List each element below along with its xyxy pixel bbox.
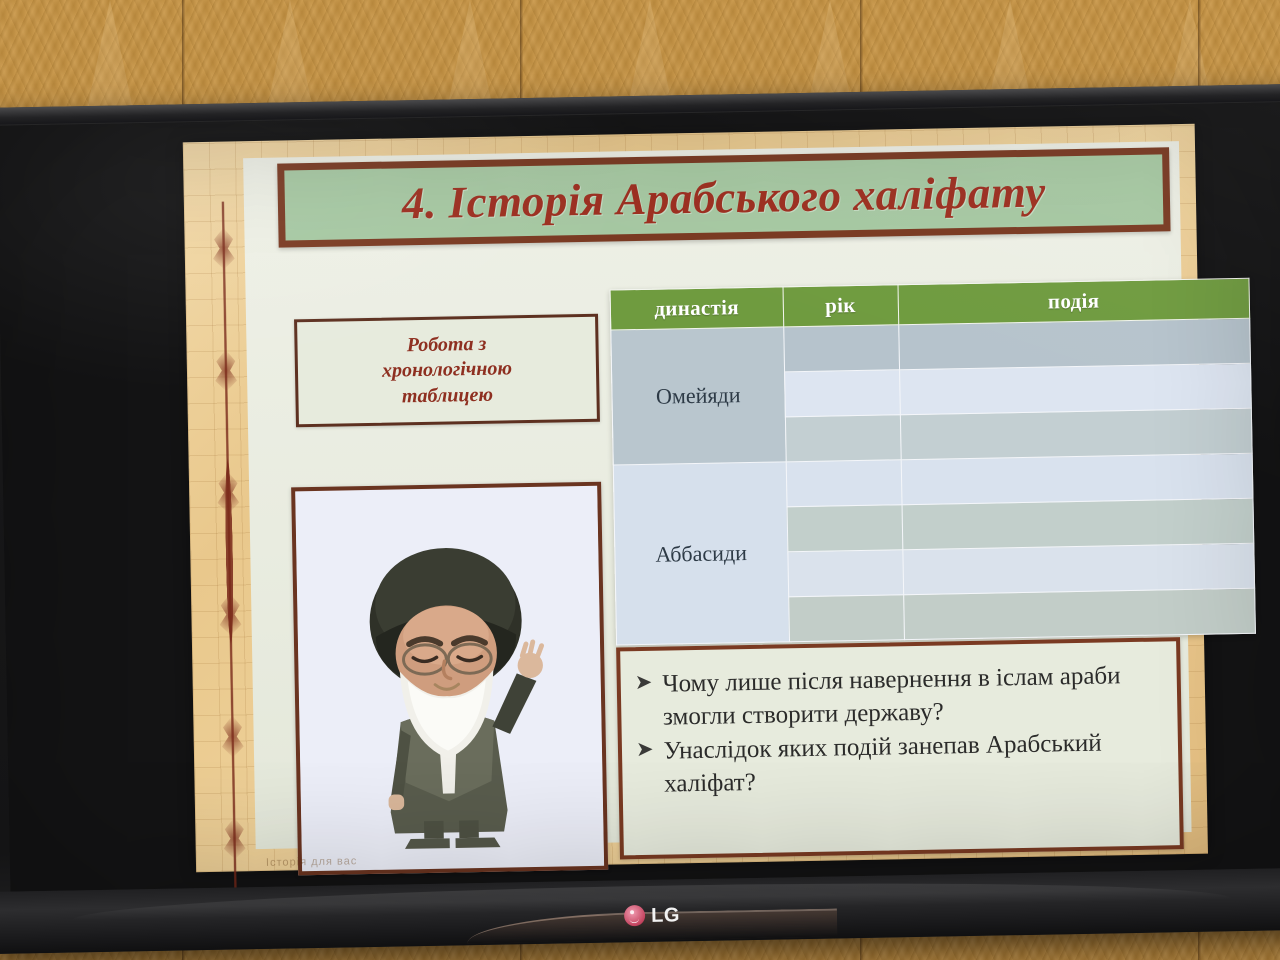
tv-screen: 4. Історія Арабського халіфату Робота з … (0, 102, 1280, 891)
slide-title-band: 4. Історія Арабського халіфату (284, 154, 1163, 240)
question-item: ➤ Унаслідок яких подій занепав Арабський… (636, 727, 1157, 802)
task-line-2: хронологічною (382, 357, 512, 385)
column-header-event: подія (898, 278, 1250, 324)
question-text-1: Чому лише після навернення в іслам араби… (662, 660, 1155, 734)
year-cell[interactable] (784, 370, 900, 417)
dynasty-cell-umayyad: Омейяди (611, 327, 786, 465)
ornament-line (210, 201, 249, 891)
task-label-box: Робота з хронологічною таблицею (294, 314, 600, 428)
chronology-table-wrapper: династія рік подія Омейяди (610, 278, 1256, 646)
question-text-2: Унаслідок яких подій занепав Арабський х… (663, 727, 1156, 801)
presentation-slide: 4. Історія Арабського халіфату Робота з … (183, 124, 1208, 872)
task-line-1: Робота з (381, 331, 511, 359)
slide-content-panel: 4. Історія Арабського халіфату Робота з … (243, 141, 1192, 849)
column-header-dynasty: династія (610, 287, 783, 330)
cartoon-cleric-icon (295, 486, 604, 871)
lg-face-icon (624, 905, 645, 926)
questions-box: ➤ Чому лише після навернення в іслам ара… (616, 637, 1184, 859)
year-cell[interactable] (788, 595, 904, 642)
event-cell[interactable] (901, 453, 1253, 504)
event-cell[interactable] (899, 363, 1251, 414)
event-cell[interactable] (902, 543, 1254, 594)
lg-brand-logo: LG (624, 904, 680, 926)
event-cell[interactable] (900, 408, 1252, 459)
year-cell[interactable] (785, 415, 901, 462)
event-cell[interactable] (902, 498, 1254, 549)
year-cell[interactable] (787, 505, 903, 552)
dynasty-cell-abbasid: Аббасиди (613, 462, 789, 645)
column-header-year: рік (783, 285, 899, 327)
television: 4. Історія Арабського халіфату Робота з … (0, 84, 1280, 954)
year-cell[interactable] (787, 550, 903, 597)
slide-watermark: Історія для вас (266, 855, 358, 869)
event-cell[interactable] (898, 318, 1250, 369)
arrow-bullet-icon: ➤ (636, 736, 655, 801)
task-line-3: таблицею (382, 382, 512, 410)
event-cell[interactable] (903, 588, 1255, 639)
lg-wordmark: LG (651, 905, 680, 926)
question-item: ➤ Чому лише після навернення в іслам ара… (635, 660, 1156, 735)
page-title: 4. Історія Арабського халіфату (402, 166, 1047, 230)
arrow-bullet-icon: ➤ (635, 669, 654, 734)
year-cell[interactable] (783, 325, 899, 372)
illustration-frame (291, 482, 608, 876)
slide-title-frame: 4. Історія Арабського халіфату (277, 147, 1170, 247)
chronology-table: династія рік подія Омейяди (610, 278, 1256, 646)
task-label-text: Робота з хронологічною таблицею (381, 331, 512, 410)
year-cell[interactable] (786, 460, 902, 507)
